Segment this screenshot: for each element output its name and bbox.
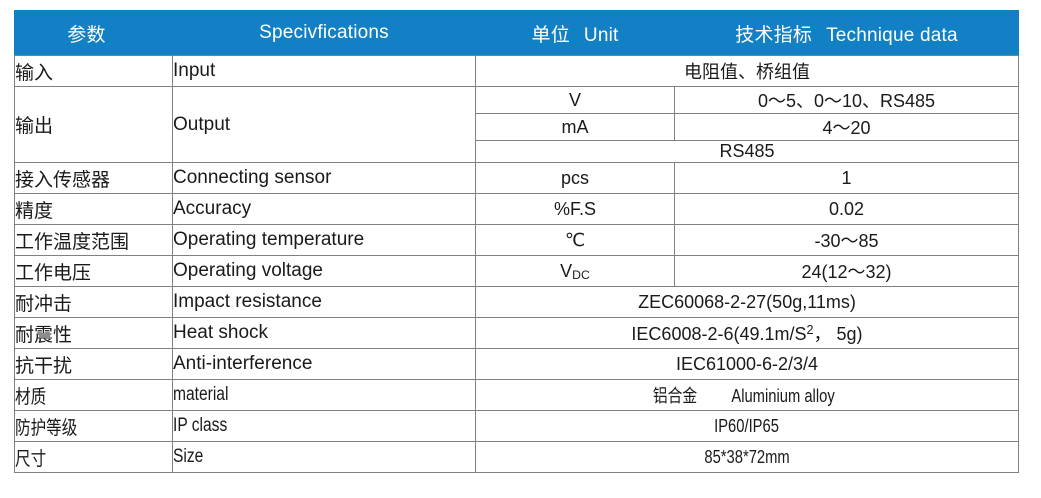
table-row: 工作温度范围 Operating temperature ℃ -30～85 bbox=[15, 225, 1019, 256]
row-value-base: IEC6008-2-6(49.1m/S bbox=[631, 324, 806, 344]
row-value: 24(12～32) bbox=[675, 256, 1019, 287]
row-label-en-text: IP class bbox=[173, 415, 227, 437]
row-label-cn: 材质 bbox=[15, 380, 173, 411]
row-label-en: Size bbox=[173, 442, 476, 473]
row-unit: pcs bbox=[476, 163, 675, 194]
row-label-cn: 输出 bbox=[15, 87, 173, 163]
table-row: 材质 material 铝合金Aluminium alloy bbox=[15, 380, 1019, 411]
row-label-cn-text: 防护等级 bbox=[15, 413, 77, 440]
row-value-merged: IEC61000-6-2/3/4 bbox=[476, 349, 1019, 380]
row-value: 4～20 bbox=[675, 114, 1019, 141]
row-unit: ℃ bbox=[476, 225, 675, 256]
header-cell-specifications: Specivfications bbox=[173, 11, 476, 56]
row-label-cn: 输入 bbox=[15, 56, 173, 87]
table-row: 接入传感器 Connecting sensor pcs 1 bbox=[15, 163, 1019, 194]
row-value: -30～85 bbox=[675, 225, 1019, 256]
row-value: 0～5、0～10、RS485 bbox=[675, 87, 1019, 114]
row-label-cn: 精度 bbox=[15, 194, 173, 225]
row-label-en: Output bbox=[173, 87, 476, 163]
header-cell-unit: 单位Unit bbox=[476, 11, 675, 56]
row-unit: V bbox=[476, 87, 675, 114]
table-row: 耐冲击 Impact resistance ZEC60068-2-27(50g,… bbox=[15, 287, 1019, 318]
row-label-en: Operating voltage bbox=[173, 256, 476, 287]
row-label-cn-text: 材质 bbox=[15, 382, 46, 409]
table-row: 抗干扰 Anti-interference IEC61000-6-2/3/4 bbox=[15, 349, 1019, 380]
table-row: 防护等级 IP class IP60/IP65 bbox=[15, 411, 1019, 442]
header-specifications-en: Specivfications bbox=[259, 22, 389, 43]
row-label-en: Operating temperature bbox=[173, 225, 476, 256]
row-label-en-text: Size bbox=[173, 446, 203, 468]
row-label-en: Heat shock bbox=[173, 318, 476, 349]
row-label-en: Input bbox=[173, 56, 476, 87]
table-body: 输入 Input 电阻值、桥组值 输出 Output V 0～5、0～10、RS… bbox=[15, 56, 1019, 473]
row-label-cn: 抗干扰 bbox=[15, 349, 173, 380]
table-row: 耐震性 Heat shock IEC6008-2-6(49.1m/S2， 5g) bbox=[15, 318, 1019, 349]
row-label-en: Accuracy bbox=[173, 194, 476, 225]
specification-table: 参数 Specivfications 单位Unit 技术指标Technique … bbox=[14, 10, 1019, 473]
header-unit-cn: 单位 bbox=[532, 25, 570, 46]
row-unit-subscript: DC bbox=[572, 268, 590, 282]
row-unit: %F.S bbox=[476, 194, 675, 225]
row-value: 1 bbox=[675, 163, 1019, 194]
row-label-cn: 工作电压 bbox=[15, 256, 173, 287]
row-value-tail: ， 5g) bbox=[814, 324, 863, 344]
row-label-cn: 耐冲击 bbox=[15, 287, 173, 318]
row-value-merged: IP60/IP65 bbox=[476, 411, 1019, 442]
header-cell-technique-data: 技术指标Technique data bbox=[675, 11, 1019, 56]
row-label-cn: 尺寸 bbox=[15, 442, 173, 473]
row-label-en: Impact resistance bbox=[173, 287, 476, 318]
row-value-merged-text: 85*38*72mm bbox=[704, 447, 789, 468]
row-label-en-text: material bbox=[173, 384, 228, 406]
row-label-cn-text: 尺寸 bbox=[15, 444, 46, 471]
header-parameter-cn: 参数 bbox=[67, 25, 105, 46]
table-row: 输出 Output V 0～5、0～10、RS485 bbox=[15, 87, 1019, 114]
row-value-merged-text: IP60/IP65 bbox=[715, 416, 780, 437]
table-row: 尺寸 Size 85*38*72mm bbox=[15, 442, 1019, 473]
row-value-merged: 85*38*72mm bbox=[476, 442, 1019, 473]
row-label-cn: 工作温度范围 bbox=[15, 225, 173, 256]
header-technique-en: Technique data bbox=[826, 25, 958, 46]
row-value-merged: ZEC60068-2-27(50g,11ms) bbox=[476, 287, 1019, 318]
row-unit-base: V bbox=[560, 261, 572, 281]
row-label-en: material bbox=[173, 380, 476, 411]
row-label-cn: 防护等级 bbox=[15, 411, 173, 442]
row-label-cn: 接入传感器 bbox=[15, 163, 173, 194]
row-unit: mA bbox=[476, 114, 675, 141]
row-label-cn: 耐震性 bbox=[15, 318, 173, 349]
row-label-en: Anti-interference bbox=[173, 349, 476, 380]
table-row: 精度 Accuracy %F.S 0.02 bbox=[15, 194, 1019, 225]
header-unit-en: Unit bbox=[584, 25, 619, 46]
row-value-merged-en: Aluminium alloy bbox=[731, 386, 834, 407]
header-cell-parameter: 参数 bbox=[15, 11, 173, 56]
header-technique-cn: 技术指标 bbox=[735, 25, 812, 46]
row-value-merged: IEC6008-2-6(49.1m/S2， 5g) bbox=[476, 318, 1019, 349]
header-row: 参数 Specivfications 单位Unit 技术指标Technique … bbox=[15, 11, 1019, 56]
row-unit: VDC bbox=[476, 256, 675, 287]
row-value-superscript: 2 bbox=[807, 323, 814, 337]
row-value-merged: 铝合金Aluminium alloy bbox=[476, 380, 1019, 411]
table-row: 输入 Input 电阻值、桥组值 bbox=[15, 56, 1019, 87]
row-value-merged-cn: 铝合金 bbox=[653, 382, 697, 408]
row-label-en: Connecting sensor bbox=[173, 163, 476, 194]
row-label-en: IP class bbox=[173, 411, 476, 442]
table-header: 参数 Specivfications 单位Unit 技术指标Technique … bbox=[15, 11, 1019, 56]
row-value-merged: 电阻值、桥组值 bbox=[476, 56, 1019, 87]
table-row: 工作电压 Operating voltage VDC 24(12～32) bbox=[15, 256, 1019, 287]
row-value-merged: RS485 bbox=[476, 141, 1019, 163]
row-value: 0.02 bbox=[675, 194, 1019, 225]
